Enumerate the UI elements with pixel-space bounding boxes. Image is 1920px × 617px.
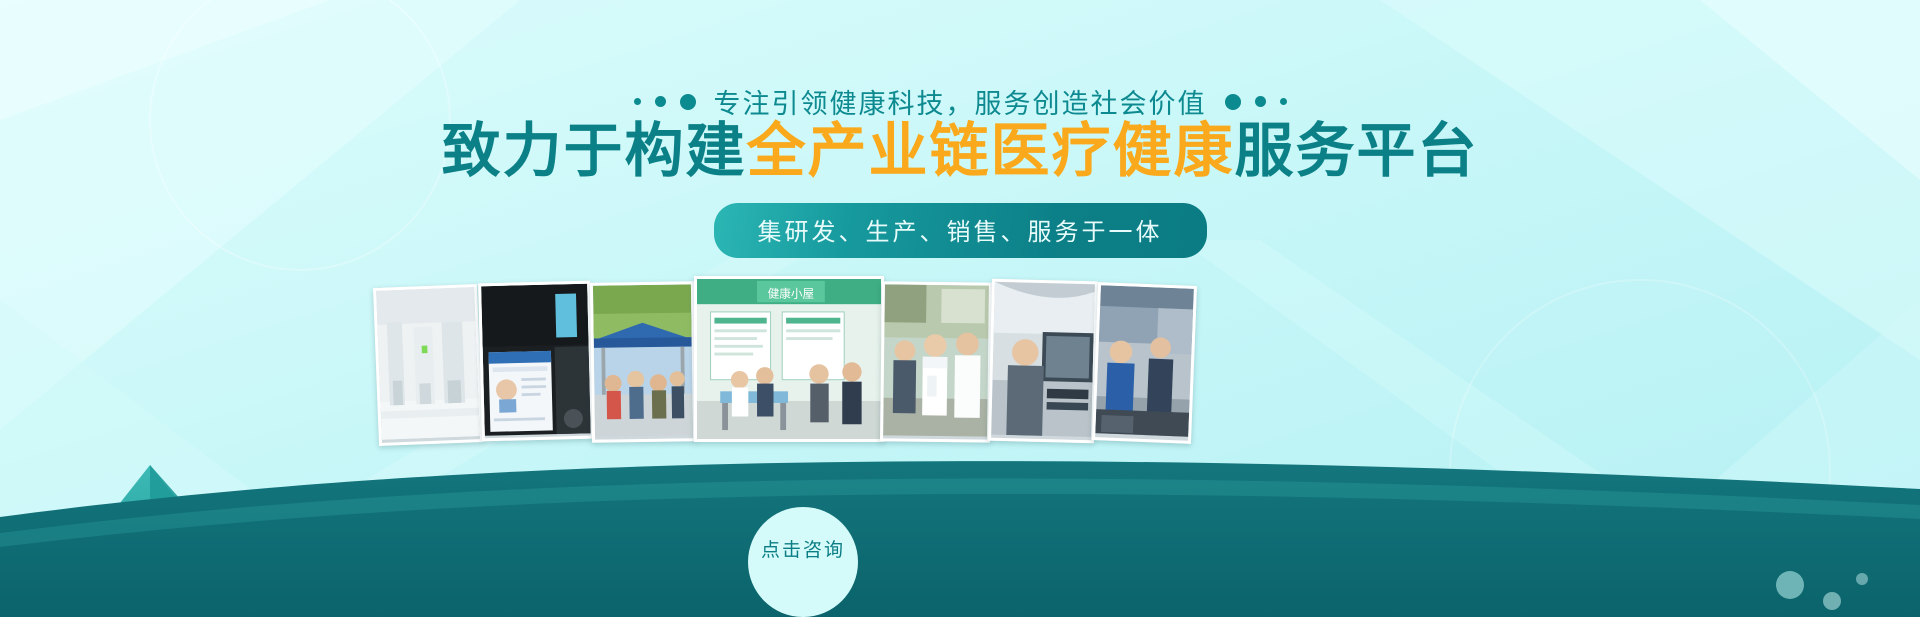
headline-part-3: 服务平台 [1235,118,1479,184]
subtitle-pill: 集研发、生产、销售、服务于一体 [714,203,1207,258]
headline-part-1: 致力于构建 [441,118,746,184]
headline-part-2: 全产业链医疗健康 [746,118,1234,184]
dot-medium-icon [655,96,666,107]
dot-large-icon [1225,94,1241,110]
svg-text:健康小屋: 健康小屋 [768,286,814,300]
tagline-text: 专注引领健康科技，服务创造社会价值 [714,82,1207,121]
consult-cta-button[interactable]: 点击咨询 [748,507,858,617]
bottom-mountain-art [0,357,1920,617]
headline: 致力于构建全产业链医疗健康服务平台 [0,118,1920,184]
tagline-row: 专注引领健康科技，服务创造社会价值 [0,82,1920,121]
dot-small-icon [634,98,641,105]
dot-small-icon [1280,98,1287,105]
consult-cta-label: 点击咨询 [761,535,845,562]
dot-medium-icon [1255,96,1266,107]
healthcare-hero-banner: 专注引领健康科技，服务创造社会价值 致力于构建全产业链医疗健康服务平台 集研发、… [0,0,1920,617]
tagline-dots-right [1225,94,1287,110]
tagline-dots-left [634,94,696,110]
dot-large-icon [680,94,696,110]
subtitle-pill-wrap: 集研发、生产、销售、服务于一体 [0,203,1920,258]
